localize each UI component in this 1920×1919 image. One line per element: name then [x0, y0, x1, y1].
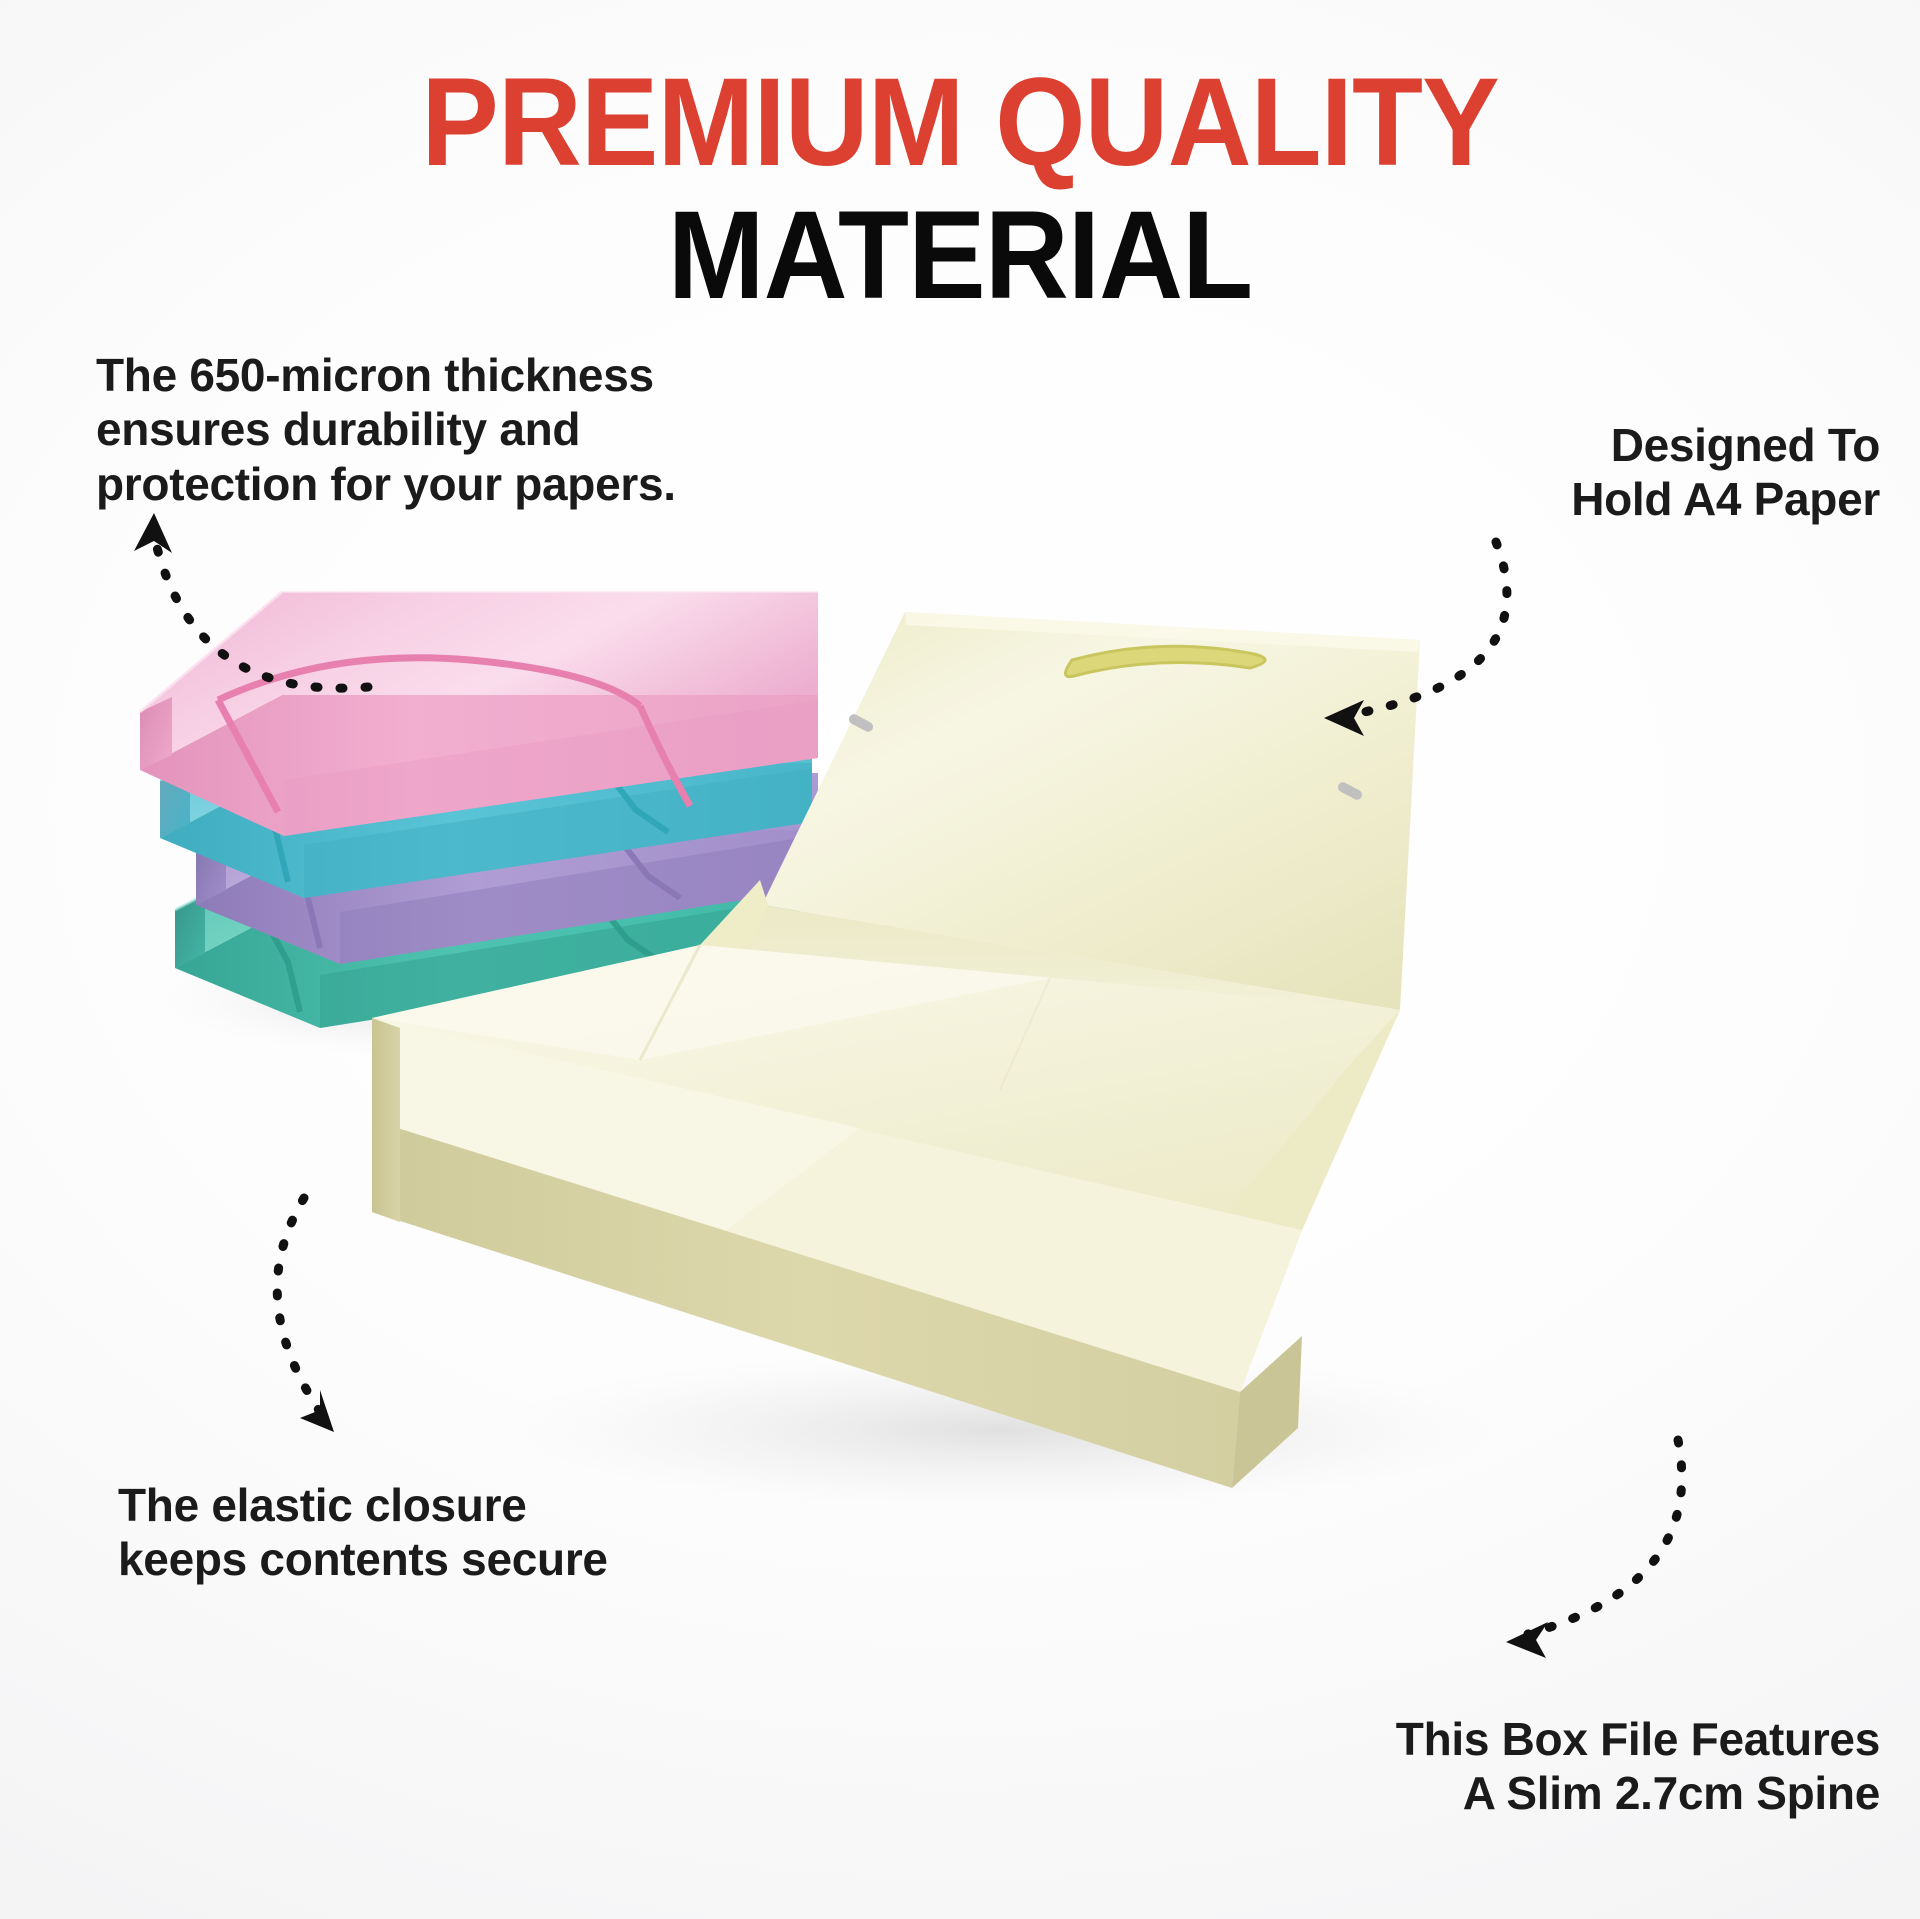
product-scene	[0, 0, 1920, 1919]
infographic-canvas: PREMIUM QUALITY MATERIAL The 650-micron …	[0, 0, 1920, 1919]
callout-elastic-text: The elastic closure keeps contents secur…	[118, 1478, 878, 1587]
callout-thickness-text: The 650-micron thickness ensures durabil…	[96, 348, 856, 511]
callout-a4-text: Designed To Hold A4 Paper	[1180, 418, 1880, 527]
callout-spine-text: This Box File Features A Slim 2.7cm Spin…	[1120, 1712, 1880, 1821]
